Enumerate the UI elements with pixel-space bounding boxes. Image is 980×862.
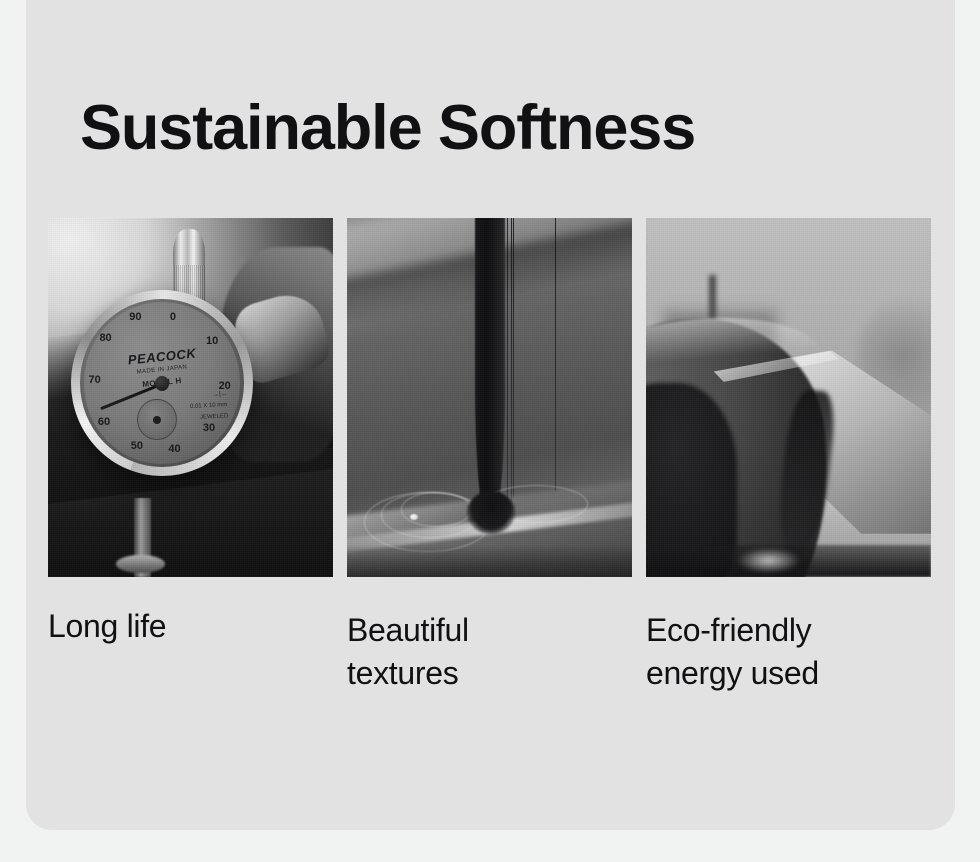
gauge-number-60: 60 [98,416,110,428]
feature-caption: Eco-friendly energy used [646,577,931,695]
caption-line: energy used [646,652,931,695]
feature-tile-eco-friendly[interactable]: Eco-friendly energy used [646,218,931,695]
gauge-hub [155,376,169,391]
gauge-number-40: 40 [168,443,180,455]
gauge-number-70: 70 [88,374,100,386]
liquid-pour-photo[interactable] [347,218,632,577]
dial-indicator-gauge-photo[interactable]: 0 10 20 30 40 50 60 70 80 90 PEACOCK MAD… [48,218,333,577]
page-title: Sustainable Softness [80,97,695,160]
gauge-number-80: 80 [99,332,111,344]
gauge-number-10: 10 [206,335,218,347]
gauge-dial-face: 0 10 20 30 40 50 60 70 80 90 PEACOCK MAD… [84,302,241,464]
feature-tile-beautiful-textures[interactable]: Beautiful textures [347,218,632,695]
roller-sheet-photo[interactable] [646,218,931,577]
caption-line: Beautiful [347,609,632,652]
gauge-arrow-mark: →|← [212,391,228,399]
caption-line: Eco-friendly [646,609,931,652]
gauge-number-50: 50 [131,440,143,452]
feature-tiles: 0 10 20 30 40 50 60 70 80 90 PEACOCK MAD… [48,218,932,695]
gauge-jeweled-label: JEWELED [199,413,228,420]
caption-line: textures [347,652,632,695]
feature-caption: Long life [48,577,333,648]
feature-caption: Beautiful textures [347,577,632,695]
gauge-number-30: 30 [203,422,215,434]
gauge-number-0: 0 [170,311,176,323]
feature-tile-long-life[interactable]: 0 10 20 30 40 50 60 70 80 90 PEACOCK MAD… [48,218,333,695]
gauge-number-90: 90 [129,311,141,323]
feature-card: Sustainable Softness [26,0,955,830]
caption-line: Long life [48,605,333,648]
page-root: Sustainable Softness [0,0,980,862]
gauge-subdial [137,399,177,440]
